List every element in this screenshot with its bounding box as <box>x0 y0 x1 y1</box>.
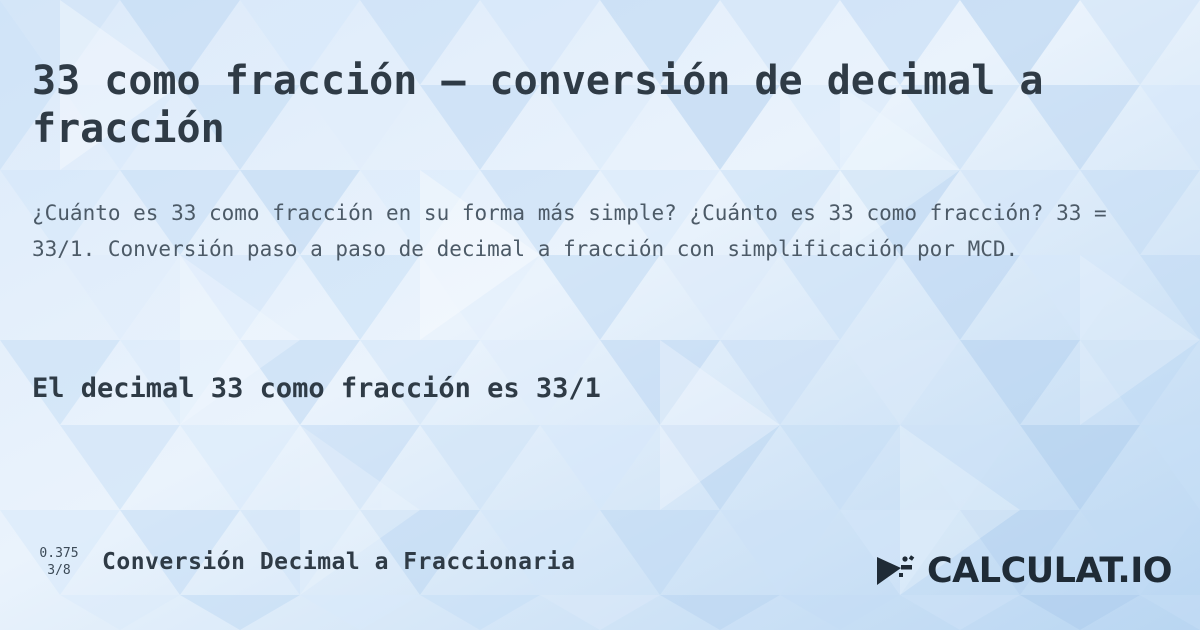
footer-left-group: 0.375 3/8 Conversión Decimal a Fracciona… <box>30 545 575 579</box>
calculator-bird-logo-icon <box>875 551 919 591</box>
brand-name: CALCULAT.IO <box>927 551 1172 591</box>
page-title: 33 como fracción – conversión de decimal… <box>32 57 1052 153</box>
fraction-icon: 0.375 3/8 <box>30 545 88 579</box>
fraction-icon-fraction: 3/8 <box>30 562 88 579</box>
answer-statement: El decimal 33 como fracción es 33/1 <box>32 371 1132 407</box>
footer: 0.375 3/8 Conversión Decimal a Fracciona… <box>0 520 1200 630</box>
fraction-icon-decimal: 0.375 <box>30 545 88 562</box>
brand-logo[interactable]: CALCULAT.IO <box>875 548 1172 594</box>
page-description: ¿Cuánto es 33 como fracción en su forma … <box>32 195 1172 267</box>
share-card: 33 como fracción – conversión de decimal… <box>0 0 1200 630</box>
footer-label: Conversión Decimal a Fraccionaria <box>102 549 575 575</box>
